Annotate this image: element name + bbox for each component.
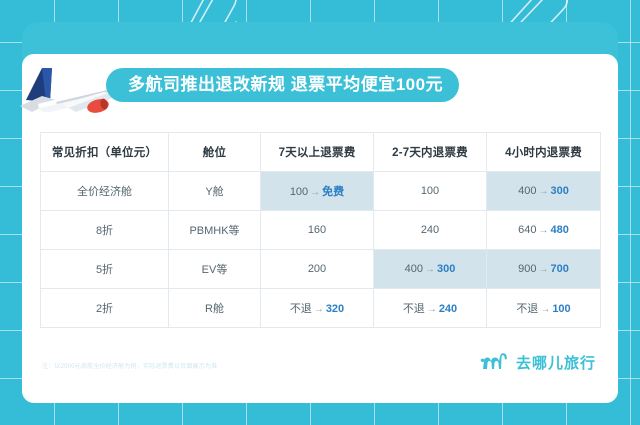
cell-old-value: 400 bbox=[518, 185, 536, 197]
arrow-icon: → bbox=[537, 225, 551, 236]
cell-fee-2-7d: 400→300 bbox=[374, 250, 487, 289]
cell-old-value: 不退 bbox=[403, 303, 425, 315]
cell-old-value: 100 bbox=[421, 185, 439, 197]
cell-new-value: 免费 bbox=[322, 186, 344, 198]
column-header-fee-4h: 4小时内退票费 bbox=[487, 133, 601, 172]
cell-fee-4h: 400→300 bbox=[487, 172, 601, 211]
arrow-icon: → bbox=[537, 186, 551, 197]
column-header-cabin: 舱位 bbox=[169, 133, 261, 172]
cell-new-value: 320 bbox=[326, 303, 344, 315]
arrow-icon: → bbox=[312, 304, 326, 315]
table-header-row: 常见折扣（单位元） 舱位 7天以上退票费 2-7天内退票费 4小时内退票费 bbox=[41, 133, 601, 172]
arrow-icon: → bbox=[423, 264, 437, 275]
arrow-icon: → bbox=[538, 304, 552, 315]
cell-discount: 8折 bbox=[41, 211, 169, 250]
cell-discount: 2折 bbox=[41, 289, 169, 328]
table-row: 全价经济舱Y舱100→免费100400→300 bbox=[41, 172, 601, 211]
cell-new-value: 300 bbox=[551, 185, 569, 197]
cell-old-value: 不退 bbox=[516, 303, 538, 315]
cell-fee-2-7d: 不退→240 bbox=[374, 289, 487, 328]
table-row: 5折EV等200400→300900→700 bbox=[41, 250, 601, 289]
page-title: 多航司推出退改新规 退票平均便宜100元 bbox=[128, 68, 443, 102]
cell-fee-7d: 100→免费 bbox=[261, 172, 374, 211]
cell-cabin: PBMHK等 bbox=[169, 211, 261, 250]
cell-fee-4h: 900→700 bbox=[487, 250, 601, 289]
cell-cabin: Y舱 bbox=[169, 172, 261, 211]
table-row: 2折R舱不退→320不退→240不退→100 bbox=[41, 289, 601, 328]
table-row: 8折PBMHK等160240640→480 bbox=[41, 211, 601, 250]
brand-logo: 去哪儿旅行 bbox=[479, 350, 596, 374]
table-body: 全价经济舱Y舱100→免费100400→3008折PBMHK等160240640… bbox=[41, 172, 601, 328]
content-card: 多航司推出退改新规 退票平均便宜100元 常见折扣（单位元） 舱位 7天以上退票… bbox=[22, 54, 618, 403]
title-banner: 多航司推出退改新规 退票平均便宜100元 bbox=[106, 68, 459, 102]
footnote-text: 注：以2000元南航全价经济舱为例，实际退票费以页面展示为准 bbox=[42, 361, 217, 370]
cell-fee-2-7d: 240 bbox=[374, 211, 487, 250]
cell-fee-7d: 200 bbox=[261, 250, 374, 289]
cell-new-value: 240 bbox=[439, 303, 457, 315]
cell-new-value: 100 bbox=[552, 303, 570, 315]
cell-cabin: R舱 bbox=[169, 289, 261, 328]
cell-fee-7d: 160 bbox=[261, 211, 374, 250]
camel-icon bbox=[479, 350, 509, 374]
cell-new-value: 300 bbox=[437, 263, 455, 275]
cell-old-value: 400 bbox=[405, 263, 423, 275]
column-header-discount: 常见折扣（单位元） bbox=[41, 133, 169, 172]
column-header-fee-2-7d: 2-7天内退票费 bbox=[374, 133, 487, 172]
cell-old-value: 160 bbox=[308, 224, 326, 236]
cell-old-value: 不退 bbox=[290, 303, 312, 315]
cell-discount: 5折 bbox=[41, 250, 169, 289]
cell-new-value: 480 bbox=[551, 224, 569, 236]
cell-fee-7d: 不退→320 bbox=[261, 289, 374, 328]
arrow-icon: → bbox=[537, 264, 551, 275]
cell-old-value: 100 bbox=[290, 186, 308, 198]
cell-cabin: EV等 bbox=[169, 250, 261, 289]
column-header-fee-7d: 7天以上退票费 bbox=[261, 133, 374, 172]
cell-old-value: 640 bbox=[518, 224, 536, 236]
refund-fee-table: 常见折扣（单位元） 舱位 7天以上退票费 2-7天内退票费 4小时内退票费 全价… bbox=[40, 132, 601, 328]
cell-old-value: 900 bbox=[518, 263, 536, 275]
cell-new-value: 700 bbox=[551, 263, 569, 275]
cell-discount: 全价经济舱 bbox=[41, 172, 169, 211]
hero-section: 多航司推出退改新规 退票平均便宜100元 bbox=[22, 54, 618, 128]
cell-old-value: 200 bbox=[308, 263, 326, 275]
cell-fee-4h: 640→480 bbox=[487, 211, 601, 250]
cell-old-value: 240 bbox=[421, 224, 439, 236]
arrow-icon: → bbox=[425, 304, 439, 315]
brand-name: 去哪儿旅行 bbox=[516, 352, 596, 373]
cell-fee-2-7d: 100 bbox=[374, 172, 487, 211]
cell-fee-4h: 不退→100 bbox=[487, 289, 601, 328]
arrow-icon: → bbox=[308, 187, 322, 198]
